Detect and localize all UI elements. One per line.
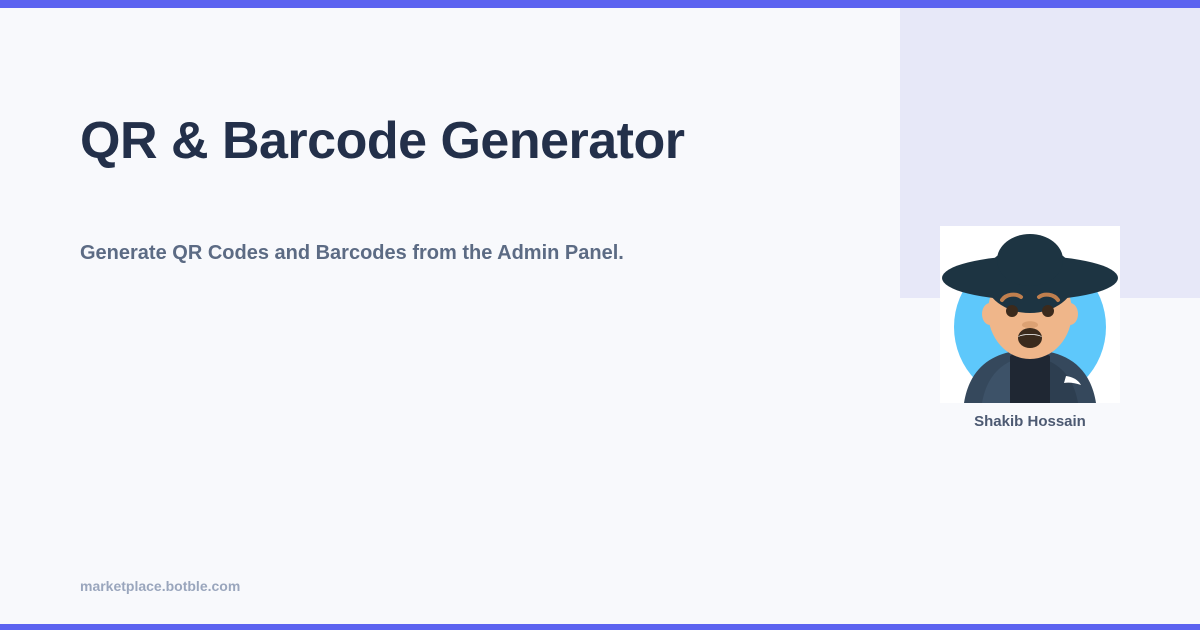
poster-canvas: QR & Barcode Generator Generate QR Codes…: [0, 0, 1200, 630]
author-name: Shakib Hossain: [940, 411, 1120, 433]
author-block: Shakib Hossain: [940, 226, 1120, 433]
footer-url: marketplace.botble.com: [80, 576, 240, 596]
page-subtitle: Generate QR Codes and Barcodes from the …: [80, 238, 624, 268]
page-title: QR & Barcode Generator: [80, 108, 685, 174]
bottom-accent-bar: [0, 624, 1200, 630]
author-avatar-card: [940, 226, 1120, 403]
person-avatar-icon: [940, 226, 1120, 403]
main-content: QR & Barcode Generator Generate QR Codes…: [0, 0, 900, 630]
